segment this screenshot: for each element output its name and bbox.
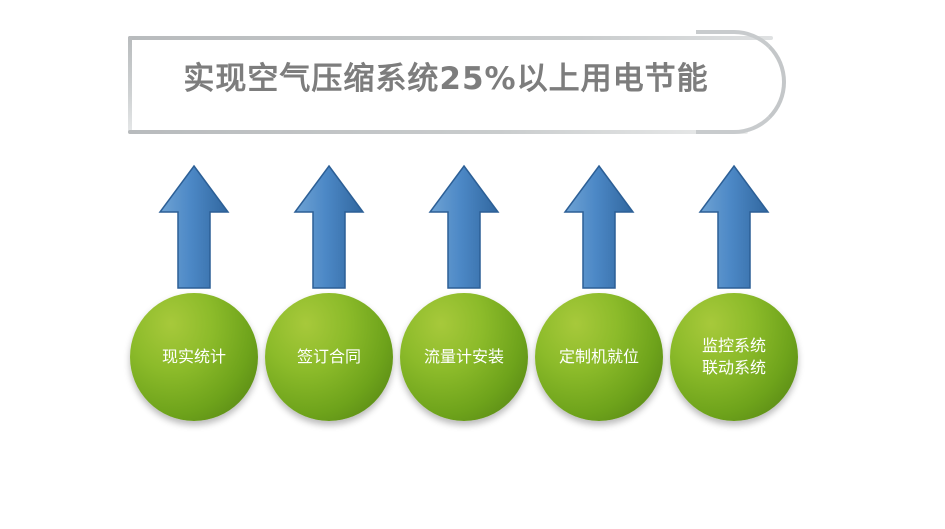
process-step-3[interactable]: 流量计安装: [394, 160, 534, 450]
page-title: 实现空气压缩系统25%以上用电节能: [156, 54, 736, 104]
step-circle[interactable]: 流量计安装: [400, 293, 528, 421]
banner-top-line: [128, 36, 773, 40]
up-arrow-icon: [394, 160, 534, 292]
step-circle[interactable]: 签订合同: [265, 293, 393, 421]
banner-left-line: [128, 36, 132, 134]
up-arrow-icon: [259, 160, 399, 292]
up-arrow-icon: [529, 160, 669, 292]
process-step-1[interactable]: 现实统计: [124, 160, 264, 450]
step-label: 监控系统 联动系统: [696, 335, 772, 379]
title-banner: 实现空气压缩系统25%以上用电节能: [128, 36, 773, 136]
step-label: 定制机就位: [553, 346, 645, 368]
banner-bottom-line: [128, 130, 748, 134]
step-circle[interactable]: 监控系统 联动系统: [670, 293, 798, 421]
step-circle[interactable]: 定制机就位: [535, 293, 663, 421]
up-arrow-icon: [664, 160, 804, 292]
process-step-5[interactable]: 监控系统 联动系统: [664, 160, 804, 450]
slide-canvas: 实现空气压缩系统25%以上用电节能 现实统计: [0, 0, 945, 529]
process-steps: 现实统计 签订合同: [0, 160, 945, 450]
step-label: 现实统计: [156, 346, 232, 368]
step-label: 流量计安装: [418, 346, 510, 368]
up-arrow-icon: [124, 160, 264, 292]
step-circle[interactable]: 现实统计: [130, 293, 258, 421]
process-step-4[interactable]: 定制机就位: [529, 160, 669, 450]
step-label: 签订合同: [291, 346, 367, 368]
process-step-2[interactable]: 签订合同: [259, 160, 399, 450]
